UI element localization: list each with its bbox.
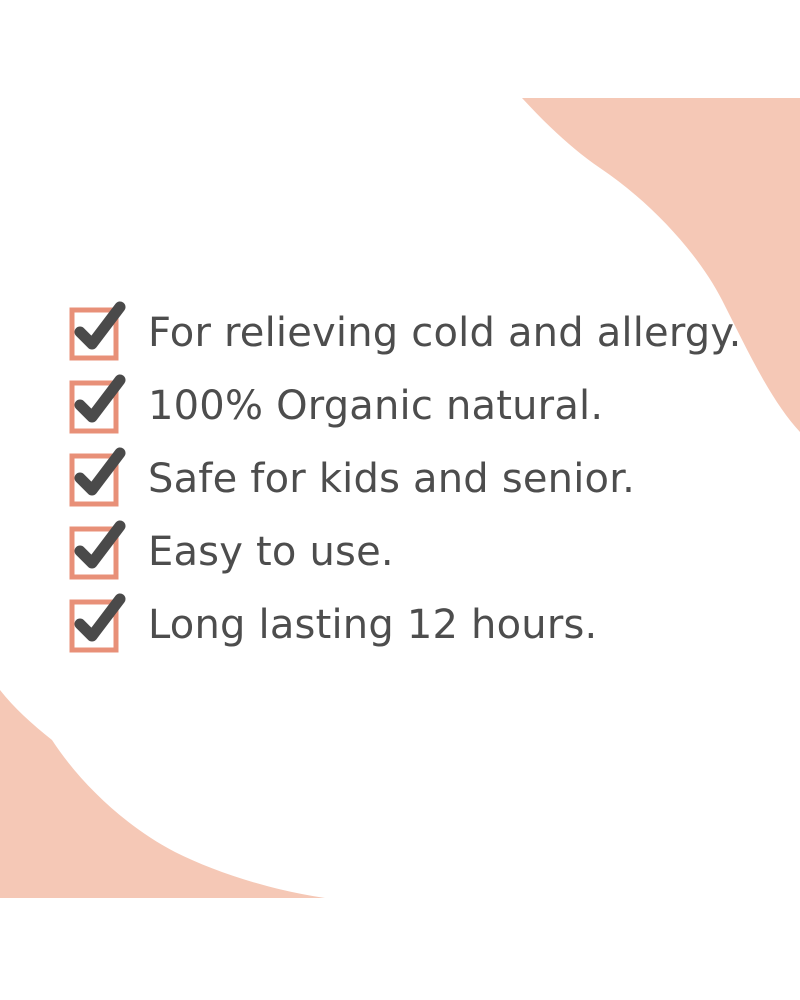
list-item[interactable]: Easy to use. <box>70 515 770 588</box>
list-item-label: 100% Organic natural. <box>148 386 603 426</box>
list-item[interactable]: 100% Organic natural. <box>70 369 770 442</box>
checkbox-checked-icon[interactable] <box>70 454 116 504</box>
list-item[interactable]: Long lasting 12 hours. <box>70 588 770 661</box>
product-benefits-card: For relieving cold and allergy. 100% Org… <box>0 0 800 1000</box>
list-item-label: Safe for kids and senior. <box>148 459 635 499</box>
checkbox-checked-icon[interactable] <box>70 308 116 358</box>
list-item[interactable]: Safe for kids and senior. <box>70 442 770 515</box>
benefits-checklist: For relieving cold and allergy. 100% Org… <box>70 296 770 661</box>
checkbox-checked-icon[interactable] <box>70 381 116 431</box>
list-item-label: Long lasting 12 hours. <box>148 605 597 645</box>
list-item[interactable]: For relieving cold and allergy. <box>70 296 770 369</box>
list-item-label: Easy to use. <box>148 532 394 572</box>
checkbox-checked-icon[interactable] <box>70 527 116 577</box>
checkbox-checked-icon[interactable] <box>70 600 116 650</box>
list-item-label: For relieving cold and allergy. <box>148 313 742 353</box>
bottom-left-wave-shape <box>0 690 325 898</box>
